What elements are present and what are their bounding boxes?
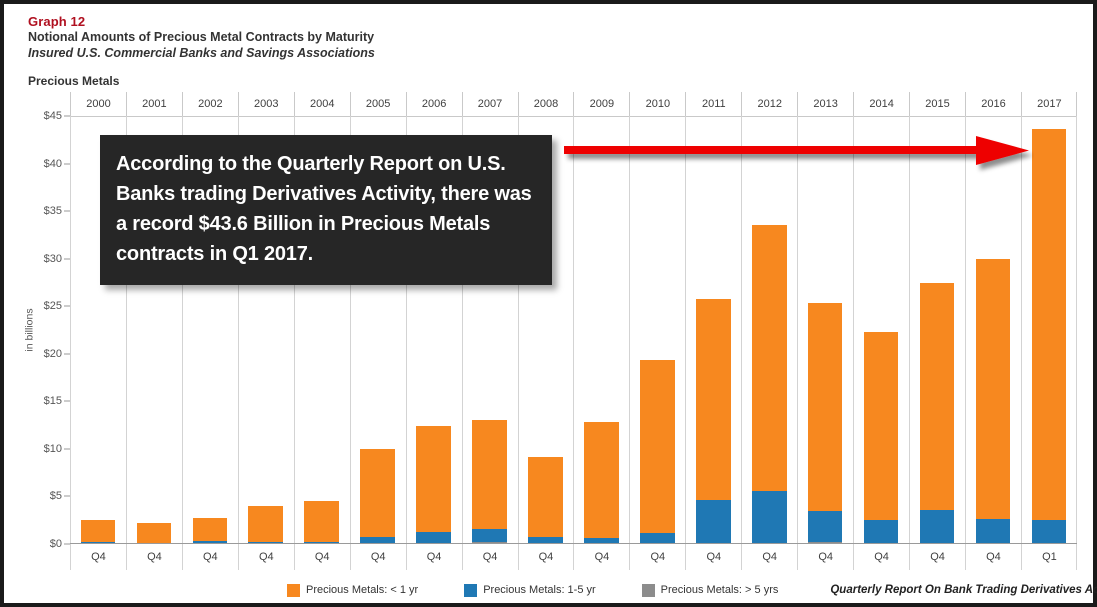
chart-subtitle: Insured U.S. Commercial Banks and Saving… [28, 46, 375, 61]
quarter-label-2013: Q4 [797, 544, 853, 570]
chart-frame: Graph 12 Notional Amounts of Precious Me… [0, 0, 1097, 607]
graph-number: Graph 12 [28, 14, 375, 29]
legend-label: Precious Metals: < 1 yr [306, 584, 418, 596]
quarter-label-2010: Q4 [629, 544, 685, 570]
bar-segment [696, 500, 731, 544]
bar-segment [137, 523, 172, 543]
bar-segment [752, 225, 787, 490]
quarter-label-row: Q4Q4Q4Q4Q4Q4Q4Q4Q4Q4Q4Q4Q4Q4Q4Q4Q4Q1 [70, 544, 1077, 570]
year-label-2007: 2007 [462, 92, 518, 116]
quarter-label-2008: Q4 [518, 544, 574, 570]
year-label-2000: 2000 [70, 92, 126, 116]
legend-item-1[interactable]: Precious Metals: 1-5 yr [464, 584, 595, 597]
year-label-2006: 2006 [406, 92, 462, 116]
year-label-2015: 2015 [909, 92, 965, 116]
quarter-label-2017: Q1 [1021, 544, 1077, 570]
bar-stack [976, 116, 1011, 544]
quarter-label-2011: Q4 [685, 544, 741, 570]
year-label-2004: 2004 [294, 92, 350, 116]
bar-segment [528, 457, 563, 537]
bar-segment [304, 501, 339, 542]
bar-segment [584, 422, 619, 538]
bar-segment [976, 259, 1011, 520]
year-label-2003: 2003 [238, 92, 294, 116]
bar-column-2011[interactable] [685, 116, 741, 544]
bar-segment [696, 299, 731, 501]
y-tick-label-15: $15 [44, 395, 62, 407]
bar-segment [920, 510, 955, 544]
bar-segment [472, 529, 507, 542]
bar-segment [1032, 129, 1067, 520]
bar-column-2010[interactable] [629, 116, 685, 544]
bar-column-2013[interactable] [797, 116, 853, 544]
y-axis-title: in billions [24, 308, 36, 351]
y-tick-label-40: $40 [44, 158, 62, 170]
bar-stack [640, 116, 675, 544]
bar-stack [752, 116, 787, 544]
year-label-2013: 2013 [797, 92, 853, 116]
bar-segment [920, 283, 955, 509]
source-note: Quarterly Report On Bank Trading Derivat… [830, 584, 1097, 596]
legend-swatch-icon [642, 584, 655, 597]
quarter-label-2012: Q4 [741, 544, 797, 570]
series-group-label: Precious Metals [28, 74, 119, 88]
bar-segment [808, 303, 843, 510]
quarter-label-2001: Q4 [126, 544, 182, 570]
quarter-label-2006: Q4 [406, 544, 462, 570]
year-label-2014: 2014 [853, 92, 909, 116]
legend-label: Precious Metals: 1-5 yr [483, 584, 595, 596]
legend-item-2[interactable]: Precious Metals: > 5 yrs [642, 584, 779, 597]
chart-title: Notional Amounts of Precious Metal Contr… [28, 30, 375, 45]
bar-column-2016[interactable] [965, 116, 1021, 544]
y-tick-label-45: $45 [44, 110, 62, 122]
bar-segment [81, 520, 116, 542]
year-label-2016: 2016 [965, 92, 1021, 116]
year-label-2005: 2005 [350, 92, 406, 116]
quarter-label-2016: Q4 [965, 544, 1021, 570]
bar-stack [864, 116, 899, 544]
quarter-label-2007: Q4 [462, 544, 518, 570]
quarter-label-2000: Q4 [70, 544, 126, 570]
bar-segment [864, 332, 899, 520]
callout-text: According to the Quarterly Report on U.S… [116, 149, 536, 269]
bar-segment [976, 519, 1011, 544]
bar-segment [808, 511, 843, 542]
year-label-2009: 2009 [573, 92, 629, 116]
year-label-2010: 2010 [629, 92, 685, 116]
y-tick-label-35: $35 [44, 205, 62, 217]
quarter-label-2009: Q4 [573, 544, 629, 570]
legend-item-0[interactable]: Precious Metals: < 1 yr [287, 584, 418, 597]
callout-box: According to the Quarterly Report on U.S… [100, 135, 552, 285]
quarter-label-2014: Q4 [853, 544, 909, 570]
bar-segment [416, 426, 451, 532]
chart-header: Graph 12 Notional Amounts of Precious Me… [28, 14, 375, 61]
year-label-2017: 2017 [1021, 92, 1077, 116]
y-tick-label-10: $10 [44, 443, 62, 455]
y-axis: in billions $0$5$10$15$20$25$30$35$40$45 [4, 116, 70, 544]
legend-swatch-icon [464, 584, 477, 597]
year-label-2011: 2011 [685, 92, 741, 116]
bar-stack [808, 116, 843, 544]
y-tick-label-30: $30 [44, 253, 62, 265]
y-tick-label-20: $20 [44, 348, 62, 360]
year-header-right-rule [1076, 92, 1077, 116]
bar-segment [472, 420, 507, 528]
bar-segment [752, 491, 787, 544]
legend-swatch-icon [287, 584, 300, 597]
legend-label: Precious Metals: > 5 yrs [661, 584, 779, 596]
bar-stack [920, 116, 955, 544]
year-header-row: 2000200120022003200420052006200720082009… [70, 92, 1077, 117]
quarter-label-2015: Q4 [909, 544, 965, 570]
bar-segment [248, 506, 283, 542]
y-tick-label-5: $5 [50, 490, 62, 502]
legend: Precious Metals: < 1 yrPrecious Metals: … [4, 575, 1097, 605]
y-tick-label-0: $0 [50, 538, 62, 550]
bar-column-2017[interactable] [1021, 116, 1077, 544]
bar-column-2012[interactable] [741, 116, 797, 544]
bar-segment [193, 518, 228, 541]
bar-segment [360, 449, 395, 537]
legend-items: Precious Metals: < 1 yrPrecious Metals: … [287, 584, 1097, 597]
bar-segment [640, 360, 675, 533]
year-label-2012: 2012 [741, 92, 797, 116]
quarter-label-2005: Q4 [350, 544, 406, 570]
bar-stack [696, 116, 731, 544]
quarter-label-2004: Q4 [294, 544, 350, 570]
year-label-2002: 2002 [182, 92, 238, 116]
bar-column-2009[interactable] [573, 116, 629, 544]
bar-column-2015[interactable] [909, 116, 965, 544]
quarter-label-2003: Q4 [238, 544, 294, 570]
y-tick-label-25: $25 [44, 300, 62, 312]
year-label-2008: 2008 [518, 92, 574, 116]
year-label-2001: 2001 [126, 92, 182, 116]
quarter-row-right-rule [1076, 544, 1077, 570]
bar-segment [1032, 520, 1067, 544]
bar-column-2014[interactable] [853, 116, 909, 544]
bar-segment [864, 520, 899, 544]
bar-stack [584, 116, 619, 544]
quarter-label-2002: Q4 [182, 544, 238, 570]
bar-stack [1032, 116, 1067, 544]
